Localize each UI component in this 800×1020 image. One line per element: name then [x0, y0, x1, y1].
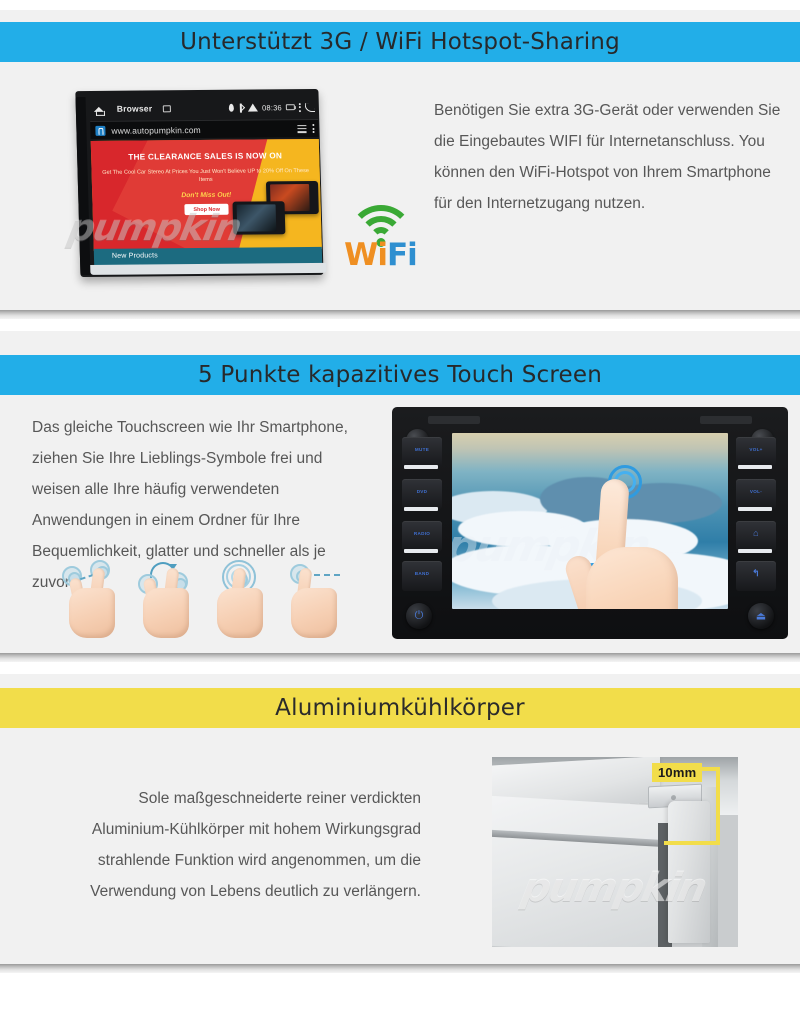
eject-icon[interactable]: ⏏	[748, 603, 774, 629]
location-pin-icon	[229, 104, 234, 112]
site-favicon	[95, 125, 105, 135]
stereo-button-mute[interactable]: MUTE	[402, 437, 442, 467]
stereo-top-panel	[400, 413, 780, 429]
product-detail-page: Unterstützt 3G / WiFi Hotspot-Sharing Br…	[0, 0, 800, 1020]
android-status-bar: Browser 08:36	[90, 97, 319, 119]
home-icon[interactable]: ⌂	[736, 521, 776, 551]
rotate-gesture-icon	[134, 560, 200, 638]
new-products-label: New Products	[112, 252, 158, 259]
device-bottom-edge	[90, 263, 326, 275]
swipe-gesture-icon	[282, 560, 348, 638]
section-divider-3	[0, 964, 800, 973]
stereo-button-volume-down[interactable]: VOL-	[736, 479, 776, 509]
two-finger-touch-hand	[570, 471, 690, 609]
browser-title: Browser	[117, 103, 153, 113]
bluetooth-icon	[238, 103, 244, 112]
back-arrow-icon[interactable]: ↰	[736, 561, 776, 591]
stereo-right-buttons: VOL+ VOL- ⌂ ↰	[734, 437, 780, 605]
browser-url-bar[interactable]: www.autopumpkin.com	[90, 119, 319, 139]
wifi-wordmark: WiFi	[333, 237, 428, 273]
battery-icon	[286, 104, 295, 110]
heatsink-front-face	[492, 795, 672, 947]
stereo-button-volume-up[interactable]: VOL+	[736, 437, 776, 467]
stereo-button-dvd[interactable]: DVD	[402, 479, 442, 509]
section-header-touch-title: 5 Punkte kapazitives Touch Screen	[198, 362, 602, 388]
measurement-badge: 10mm	[652, 763, 702, 782]
section-gap-2	[0, 662, 800, 674]
heatsink-photo: 10mm pumpkin	[492, 757, 738, 947]
bookmarks-icon[interactable]	[297, 125, 306, 133]
section-wifi-body: Benötigen Sie extra 3G-Gerät oder verwen…	[434, 95, 782, 219]
shop-now-button[interactable]: Shop Now	[184, 204, 229, 215]
section-header-touch: 5 Punkte kapazitives Touch Screen	[0, 355, 800, 395]
device-body: Browser 08:36 www.autopumpkin.com	[75, 89, 323, 277]
section-header-heatsink: Aluminiumkühlkörper	[0, 688, 800, 728]
product-unit-2	[232, 201, 285, 234]
screenshot-icon[interactable]	[163, 105, 171, 112]
home-icon[interactable]	[94, 103, 105, 114]
back-arrow-icon[interactable]	[305, 103, 315, 112]
status-icon-group: 08:36	[229, 102, 318, 112]
clearance-sale-banner[interactable]: THE CLEARANCE SALES IS NOW ON Get The Co…	[91, 139, 322, 251]
stereo-touchscreen[interactable]: pumpkin	[452, 433, 728, 609]
banner-product-images	[232, 181, 320, 238]
overflow-menu-icon[interactable]	[299, 103, 301, 112]
url-text: www.autopumpkin.com	[111, 124, 201, 135]
wifi-icon	[248, 104, 258, 112]
section-divider-2	[0, 653, 800, 662]
stereo-left-buttons: MUTE DVD RADIO BAND	[400, 437, 446, 605]
device-left-edge	[75, 97, 90, 275]
section-gap-1	[0, 319, 800, 331]
overflow-menu-icon[interactable]	[312, 124, 314, 133]
wifi-word-first: Wi	[344, 237, 387, 273]
power-icon[interactable]: ⏻	[406, 603, 432, 629]
wifi-logo: WiFi	[333, 205, 428, 277]
status-clock: 08:36	[262, 103, 282, 112]
pinch-gesture-icon	[60, 560, 126, 638]
car-stereo-touch-image: pumpkin MUTE DVD RADIO BAND ⏻ VOL+	[392, 407, 788, 639]
android-head-unit-image: Browser 08:36 www.autopumpkin.com	[72, 86, 327, 284]
gesture-illustrations	[60, 560, 350, 638]
section-divider-1	[0, 310, 800, 319]
wifi-word-second: Fi	[387, 237, 417, 273]
tap-gesture-icon	[208, 560, 274, 638]
stereo-button-radio[interactable]: RADIO	[402, 521, 442, 551]
stereo-button-band[interactable]: BAND	[402, 561, 442, 591]
section-heatsink-body: Sole maßgeschneiderte reiner verdickten …	[86, 783, 421, 907]
section-header-wifi: Unterstützt 3G / WiFi Hotspot-Sharing	[0, 22, 800, 62]
section-header-wifi-title: Unterstützt 3G / WiFi Hotspot-Sharing	[180, 29, 620, 55]
section-header-heatsink-title: Aluminiumkühlkörper	[275, 695, 525, 721]
url-bar-actions	[297, 124, 318, 133]
